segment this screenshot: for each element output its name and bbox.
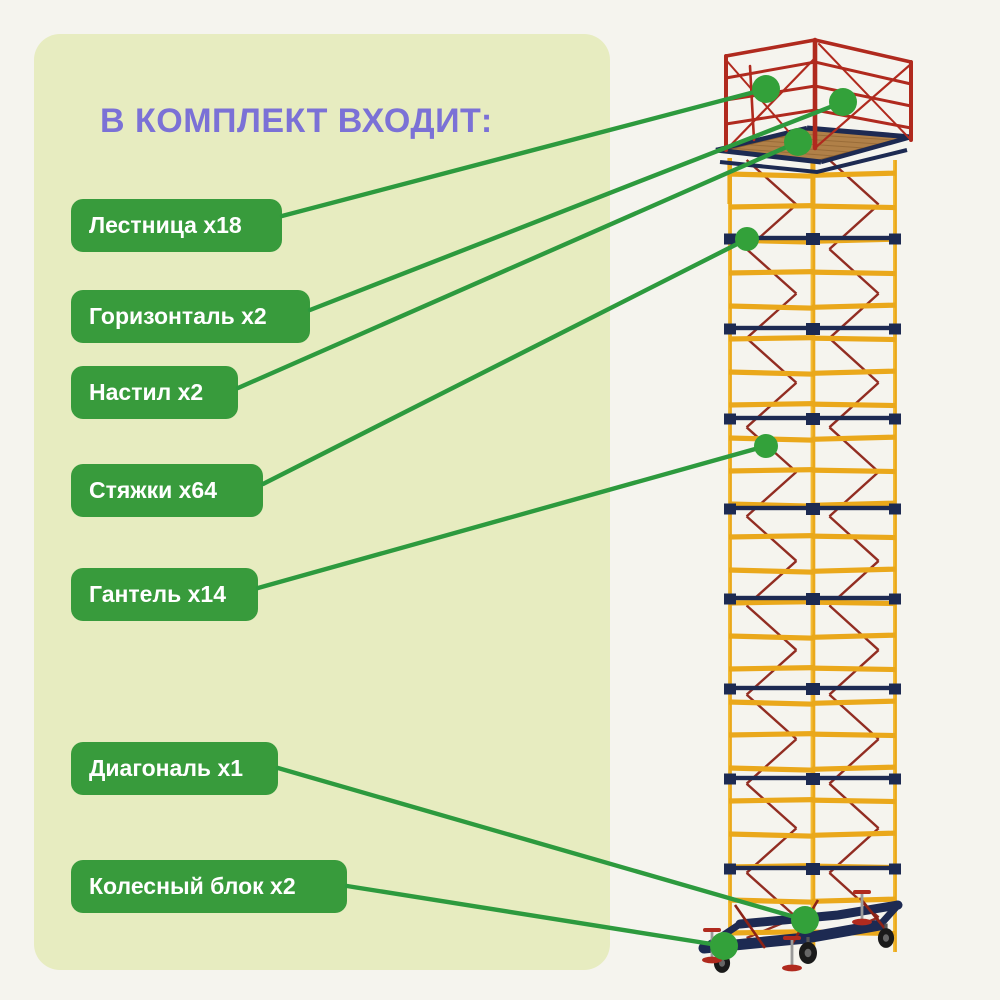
ladder-rung: [812, 338, 896, 339]
ladder-rung: [812, 305, 896, 307]
part-badge-horizontal[interactable]: Горизонталь x2: [71, 290, 310, 343]
ladder-rung: [729, 372, 814, 374]
ladder-rung: [812, 734, 896, 735]
ladder-rung: [812, 371, 896, 373]
infographic-root: В комплект входит: Лестница x18Горизонта…: [0, 0, 1000, 1000]
part-badge-ties[interactable]: Стяжки x64: [71, 464, 263, 517]
brace-bay-right: [829, 160, 878, 938]
page-title: В комплект входит:: [100, 102, 493, 141]
tie-bar: [730, 416, 813, 420]
ladder-rung: [729, 240, 814, 242]
brace-bay-left: [747, 160, 797, 938]
ladder-rung: [729, 438, 814, 440]
guardrail-member: [750, 66, 754, 140]
ladder-rung: [729, 668, 814, 669]
part-badge-label: Стяжки x64: [89, 477, 217, 504]
tie-bar: [730, 686, 813, 690]
part-badge-dumbbell[interactable]: Гантель x14: [71, 568, 258, 621]
ladder-rung: [729, 768, 814, 770]
part-badge-label: Гантель x14: [89, 581, 226, 608]
ladder-rung: [729, 702, 814, 704]
tie-bar: [813, 416, 895, 420]
ladder-rung: [812, 536, 896, 537]
ladder-rung: [729, 206, 814, 207]
ladder-rung: [729, 404, 814, 405]
tie-bar: [813, 236, 895, 240]
ladder-rung: [729, 734, 814, 735]
ladder-rung: [812, 503, 896, 505]
ladder-rung: [729, 470, 814, 471]
ladder-rung: [812, 701, 896, 703]
ladder-rung: [729, 602, 814, 603]
ladder-rung: [812, 569, 896, 571]
ladder-rung: [812, 800, 896, 801]
tie-bar: [730, 506, 813, 510]
ladder-rung: [729, 800, 814, 801]
part-badge-diagonal[interactable]: Диагональ x1: [71, 742, 278, 795]
tie-bar: [813, 506, 895, 510]
ladder-rung: [812, 470, 896, 471]
ladder-rung: [812, 899, 896, 901]
tie-bar: [813, 686, 895, 690]
ladder-rung: [812, 668, 896, 669]
part-badge-label: Лестница x18: [89, 212, 242, 239]
part-badge-ladder[interactable]: Лестница x18: [71, 199, 282, 252]
ladder-rung: [729, 306, 814, 308]
ladder-rung: [812, 437, 896, 439]
ladder-rung: [812, 833, 896, 835]
part-badge-deck[interactable]: Настил x2: [71, 366, 238, 419]
ladder-rung: [729, 338, 814, 339]
part-badge-label: Колесный блок x2: [89, 873, 296, 900]
ladder-rung: [812, 404, 896, 405]
ladder-rung: [729, 932, 814, 933]
ladder-rung: [729, 900, 814, 902]
ladder-rung: [812, 272, 896, 273]
ladder-rung: [812, 602, 896, 603]
part-badge-label: Настил x2: [89, 379, 203, 406]
tie-bar: [730, 326, 813, 330]
tie-bar: [813, 326, 895, 330]
tie-bar: [813, 596, 895, 600]
part-badge-label: Диагональ x1: [89, 755, 243, 782]
ladder-rung: [812, 206, 896, 207]
ladder-rung: [729, 636, 814, 638]
tie-bar: [730, 776, 813, 780]
guardrail-member: [726, 62, 911, 84]
tie-bar: [813, 776, 895, 780]
ladder-rung: [729, 570, 814, 572]
ladder-rung: [729, 536, 814, 537]
guardrail-member: [726, 60, 803, 148]
tie-bar: [730, 866, 813, 870]
ladder-rung: [812, 173, 896, 175]
ladder-rung: [812, 635, 896, 637]
part-badge-wheel-block[interactable]: Колесный блок x2: [71, 860, 347, 913]
tie-bar: [730, 236, 813, 240]
ladder-rung: [812, 767, 896, 769]
ladder-rung: [729, 834, 814, 836]
ladder-rung: [729, 272, 814, 273]
tie-bar: [730, 596, 813, 600]
tie-bar: [813, 866, 895, 870]
ladder-rung: [729, 174, 814, 176]
part-badge-label: Горизонталь x2: [89, 303, 267, 330]
